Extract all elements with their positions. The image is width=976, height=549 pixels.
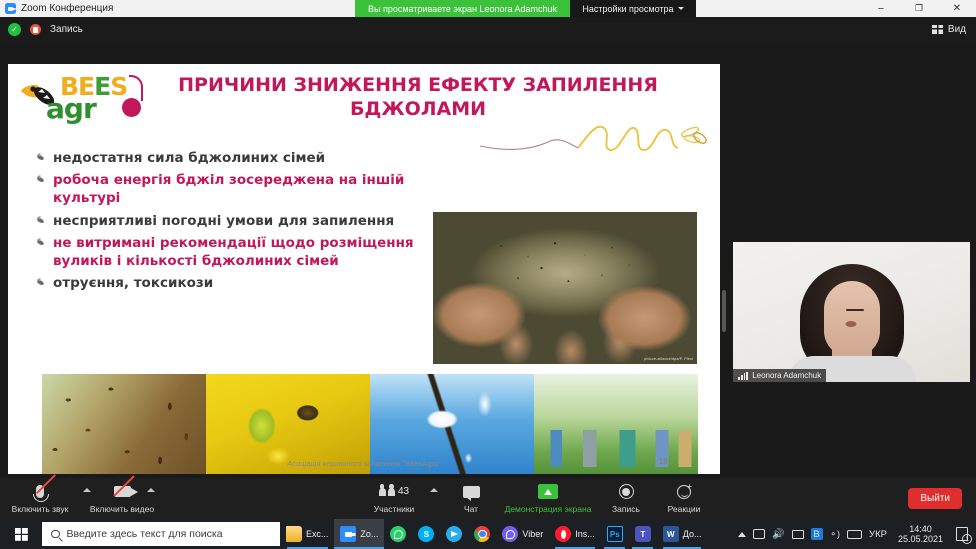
list-item: несприятливі погодні умови для запилення (34, 212, 434, 230)
participants-count: 43 (398, 486, 409, 497)
view-switch-button[interactable]: Вид (932, 24, 976, 35)
list-item-text: недостатня сила бджолиних сімей (53, 149, 325, 167)
clock-time: 14:40 (909, 524, 932, 534)
show-hidden-icons-chevron[interactable] (738, 532, 746, 537)
slide-bullet-list: недостатня сила бджолиних сімей робоча е… (34, 149, 434, 297)
list-item-text: робоча енергія бджіл зосереджена на інші… (53, 171, 434, 207)
bluetooth-icon[interactable]: B (811, 528, 823, 540)
search-placeholder: Введите здесь текст для поиска (67, 528, 223, 540)
taskbar-items: Ехс... Zo... Viber (280, 519, 708, 549)
shared-screen-scrollbar[interactable] (722, 290, 726, 332)
system-tray: B ⚬) УКР 14:40 25.05.2021 1 (738, 519, 976, 549)
window-controls (862, 0, 976, 17)
mute-button[interactable]: Включить звук (4, 481, 76, 514)
participants-button[interactable]: 43 Участники (358, 481, 430, 514)
windows-start-icon (15, 528, 28, 541)
meeting-control-bar: Включить звук Включить видео 43 Участник… (0, 478, 976, 519)
search-icon (51, 530, 60, 539)
start-video-button-label: Включить видео (90, 504, 154, 514)
display-icon[interactable] (792, 530, 804, 539)
minimize-button[interactable] (862, 0, 900, 17)
taskbar-clock[interactable]: 14:40 25.05.2021 (894, 524, 947, 545)
taskbar-search-input[interactable]: Введите здесь текст для поиска (42, 522, 280, 546)
microphone-muted-icon (36, 481, 44, 502)
windows-taskbar: Введите здесь текст для поиска Ехс... Zo… (0, 519, 976, 549)
screen-share-banner: Вы просматриваете экран Leonora Adamchuk (355, 0, 570, 17)
title-bar-left: Zoom Конференция (0, 3, 350, 14)
participant-video-tile[interactable]: Leonora Adamchuk (733, 242, 970, 382)
share-screen-icon (538, 481, 558, 502)
chevron-down-icon (678, 7, 684, 10)
taskbar-item-label: До... (683, 529, 702, 539)
participant-name: Leonora Adamchuk (752, 371, 821, 380)
chat-bubble-icon (463, 481, 480, 502)
list-item: не витримані рекомендації щодо розміщенн… (34, 234, 434, 270)
clock-date: 25.05.2021 (898, 534, 943, 544)
logo-agro-text: agr (46, 92, 96, 125)
taskbar-item-skype[interactable] (412, 519, 440, 549)
chrome-icon (474, 526, 490, 542)
participants-button-label: Участники (374, 504, 415, 514)
bee-bullet-icon (34, 234, 45, 248)
skype-icon (418, 526, 434, 542)
recording-label: Запись (50, 24, 83, 35)
taskbar-item-explorer[interactable]: Ехс... (280, 519, 334, 549)
avatar-eye-right (853, 309, 864, 312)
opera-icon (555, 526, 571, 542)
teams-icon (635, 526, 651, 542)
microphone-tray-icon[interactable]: ⚬) (830, 529, 841, 540)
taskbar-item-label: Ins... (575, 529, 595, 539)
signal-bars-icon (738, 372, 748, 380)
telegram-icon (446, 526, 462, 542)
list-item: отруєння, токсикози (34, 274, 434, 292)
file-explorer-icon (286, 526, 302, 542)
start-video-button[interactable]: Включить видео (78, 481, 166, 514)
taskbar-item-word[interactable]: До... (657, 519, 708, 549)
action-center-icon[interactable]: 1 (954, 526, 970, 542)
maximize-button[interactable] (900, 0, 938, 17)
taskbar-item-chrome[interactable] (468, 519, 496, 549)
taskbar-item-label: Zo... (360, 529, 378, 539)
language-indicator[interactable]: УКР (869, 529, 887, 540)
bee-bullet-icon (34, 274, 45, 288)
status-bar-left: Запись (0, 23, 83, 36)
mute-button-label: Включить звук (12, 504, 69, 514)
presentation-slide: BEES agr ПРИЧИНИ ЗНИЖЕННЯ ЕФЕКТУ ЗАПИЛЕН… (8, 64, 720, 474)
keyboard-icon[interactable] (847, 530, 862, 539)
taskbar-item-zoom[interactable]: Zo... (334, 519, 384, 549)
reactions-button-label: Реакции (668, 504, 701, 514)
recording-icon (30, 24, 41, 35)
leave-meeting-button[interactable]: Выйти (908, 488, 962, 509)
reactions-smiley-icon: + (677, 481, 691, 502)
share-screen-button-label: Демонстрация экрана (505, 504, 592, 514)
bee-bullet-icon (34, 171, 45, 185)
taskbar-item-whatsapp[interactable] (384, 519, 412, 549)
whatsapp-icon (390, 526, 406, 542)
reactions-button[interactable]: + Реакции (648, 481, 720, 514)
taskbar-item-opera[interactable]: Ins... (549, 519, 601, 549)
taskbar-item-telegram[interactable] (440, 519, 468, 549)
bee-bullet-icon (34, 149, 45, 163)
video-options-chevron-up-icon[interactable] (147, 488, 155, 492)
window-title: Zoom Конференция (21, 3, 113, 14)
screen-share-banner-label: Вы просматриваете экран Leonora Adamchuk (368, 4, 557, 14)
meeting-status-bar: Запись Вид (0, 17, 976, 42)
slide-title: ПРИЧИНИ ЗНИЖЕННЯ ЕФЕКТУ ЗАПИЛЕННЯ БДЖОЛА… (158, 74, 678, 122)
viber-icon (502, 526, 518, 542)
close-button[interactable] (938, 0, 976, 17)
zoom-logo-icon (5, 3, 16, 14)
avatar-mouth (845, 321, 856, 327)
volume-icon[interactable] (772, 529, 784, 540)
camera-muted-icon (114, 481, 131, 502)
beesagro-logo: BEES agr (18, 70, 158, 122)
list-item-text: не витримані рекомендації щодо розміщенн… (53, 234, 434, 270)
view-label: Вид (948, 24, 966, 35)
list-item-text: отруєння, токсикози (53, 274, 213, 292)
list-item: недостатня сила бджолиних сімей (34, 149, 434, 167)
dead-bees-pile (481, 233, 650, 306)
zoom-meeting-window: Zoom Конференция Вы просматриваете экран… (0, 0, 976, 549)
network-icon[interactable] (753, 529, 765, 539)
taskbar-item-label: Ехс... (306, 529, 328, 539)
record-circle-icon (619, 481, 634, 502)
slide-page-number: 18 (659, 456, 668, 466)
participant-name-bar: Leonora Adamchuk (733, 369, 826, 382)
record-button-label: Запись (612, 504, 640, 514)
taskbar-item-viber[interactable]: Viber (496, 519, 549, 549)
cherry-icon (122, 98, 141, 117)
video-background (733, 242, 970, 382)
grid-view-icon (932, 25, 943, 34)
view-options-label: Настройки просмотра (582, 4, 673, 14)
photo-credit: picture-alliance/dpa/P. Pleul (644, 357, 693, 361)
decorative-squiggle (478, 116, 708, 156)
taskbar-item-photoshop[interactable]: Ps (601, 519, 629, 549)
zoom-icon (340, 526, 356, 542)
taskbar-item-teams[interactable] (629, 519, 657, 549)
notification-count: 1 (962, 534, 972, 544)
chat-button-label: Чат (464, 504, 478, 514)
participants-icon: 43 (379, 481, 409, 502)
hands-holding-dead-bees-photo: picture-alliance/dpa/P. Pleul (433, 212, 697, 364)
share-screen-button[interactable]: Демонстрация экрана (490, 481, 606, 514)
word-icon (663, 526, 679, 542)
slide-footer: Асоціація керованого запилення "BeesAgro… (8, 459, 720, 468)
taskbar-item-label: Viber (522, 529, 543, 539)
list-item: робоча енергія бджіл зосереджена на інші… (34, 171, 434, 207)
shield-check-icon[interactable] (8, 23, 21, 36)
view-options-button[interactable]: Настройки просмотра (570, 0, 696, 17)
bee-bullet-icon (34, 212, 45, 226)
shared-screen-area: BEES agr ПРИЧИНИ ЗНИЖЕННЯ ЕФЕКТУ ЗАПИЛЕН… (0, 42, 976, 478)
photoshop-icon: Ps (607, 526, 623, 542)
windows-start-button[interactable] (0, 519, 42, 549)
list-item-text: несприятливі погодні умови для запилення (53, 212, 394, 230)
